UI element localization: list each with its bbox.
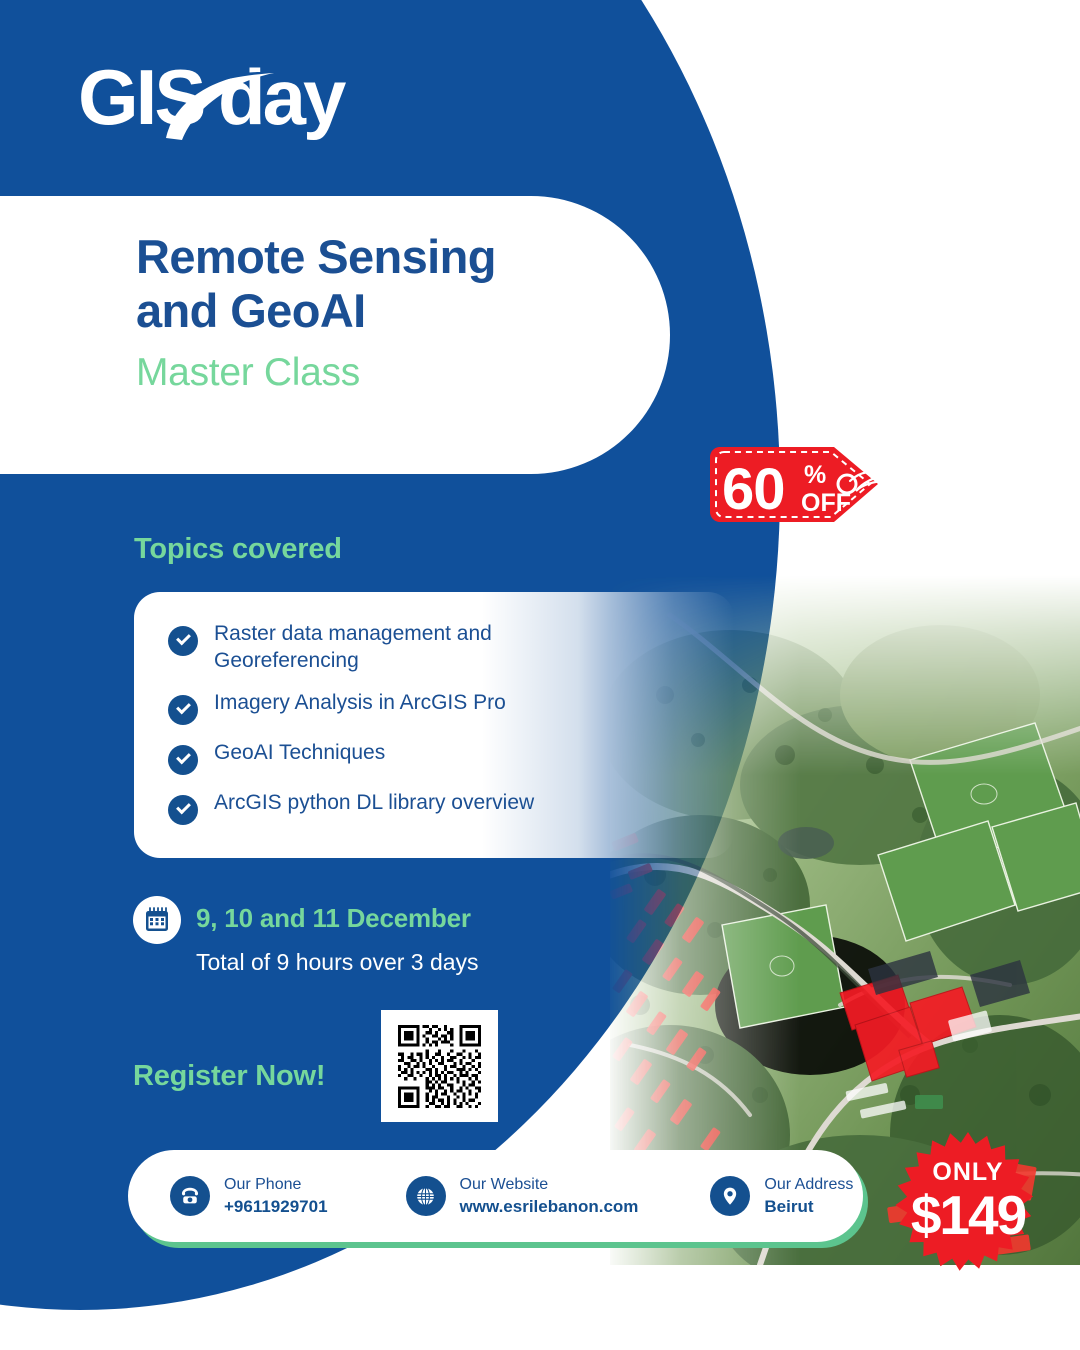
check-icon	[168, 626, 198, 656]
list-item: Raster data management and Georeferencin…	[168, 620, 638, 675]
calendar-icon	[133, 896, 181, 944]
contact-label: Our Phone	[224, 1176, 301, 1193]
contact-value: www.esrilebanon.com	[460, 1197, 639, 1216]
event-duration: Total of 9 hours over 3 days	[196, 949, 479, 976]
globe-icon	[406, 1176, 446, 1216]
topics-heading: Topics covered	[134, 533, 342, 566]
contact-text-website: Our Website www.esrilebanon.com	[460, 1174, 639, 1218]
price-value: $149	[911, 1184, 1026, 1246]
contact-bar: Our Phone +9611929701 Our Website	[128, 1150, 863, 1242]
title-line-1: Remote Sensing	[136, 230, 696, 284]
pin-icon	[710, 1176, 750, 1216]
discount-off-label: OFF	[801, 489, 851, 517]
logo-text-day: day	[218, 53, 346, 141]
contact-label: Our Website	[460, 1176, 549, 1193]
price-badge: ONLY $149	[890, 1128, 1046, 1284]
event-dates: 9, 10 and 11 December	[196, 903, 471, 934]
phone-icon	[170, 1176, 210, 1216]
contact-item-phone[interactable]: Our Phone +9611929701	[170, 1174, 328, 1218]
contact-text-phone: Our Phone +9611929701	[224, 1174, 328, 1218]
discount-tag-badge: 60 % OFF	[700, 437, 895, 532]
list-item: GeoAI Techniques	[168, 739, 638, 775]
check-icon	[168, 745, 198, 775]
topic-label: GeoAI Techniques	[214, 739, 385, 767]
discount-percent-symbol: %	[804, 461, 826, 489]
discount-amount: 60	[722, 457, 785, 522]
contact-value: Beirut	[764, 1197, 813, 1216]
contact-item-website[interactable]: Our Website www.esrilebanon.com	[406, 1174, 639, 1218]
page-title: Remote Sensing and GeoAI	[136, 230, 696, 337]
contact-item-address[interactable]: Our Address Beirut	[710, 1174, 853, 1218]
hero-title-block: Remote Sensing and GeoAI Master Class	[136, 230, 696, 395]
topic-label: Raster data management and Georeferencin…	[214, 620, 638, 675]
list-item: Imagery Analysis in ArcGIS Pro	[168, 689, 638, 725]
topics-list: Raster data management and Georeferencin…	[168, 620, 638, 825]
topic-label: Imagery Analysis in ArcGIS Pro	[214, 689, 506, 717]
check-icon	[168, 795, 198, 825]
price-prefix: ONLY	[932, 1158, 1003, 1186]
contact-value: +9611929701	[224, 1197, 328, 1216]
title-line-2: and GeoAI	[136, 284, 696, 338]
contact-text-address: Our Address Beirut	[764, 1174, 853, 1218]
poster-canvas: GIS day Remote Sensing and GeoAI Master …	[0, 0, 1080, 1350]
check-icon	[168, 695, 198, 725]
contact-label: Our Address	[764, 1176, 853, 1193]
gis-day-logo: GIS day	[78, 48, 368, 148]
topic-label: ArcGIS python DL library overview	[214, 789, 534, 817]
qr-code[interactable]	[381, 1010, 498, 1122]
list-item: ArcGIS python DL library overview	[168, 789, 638, 825]
page-subtitle: Master Class	[136, 351, 696, 395]
register-cta[interactable]: Register Now!	[133, 1060, 325, 1093]
